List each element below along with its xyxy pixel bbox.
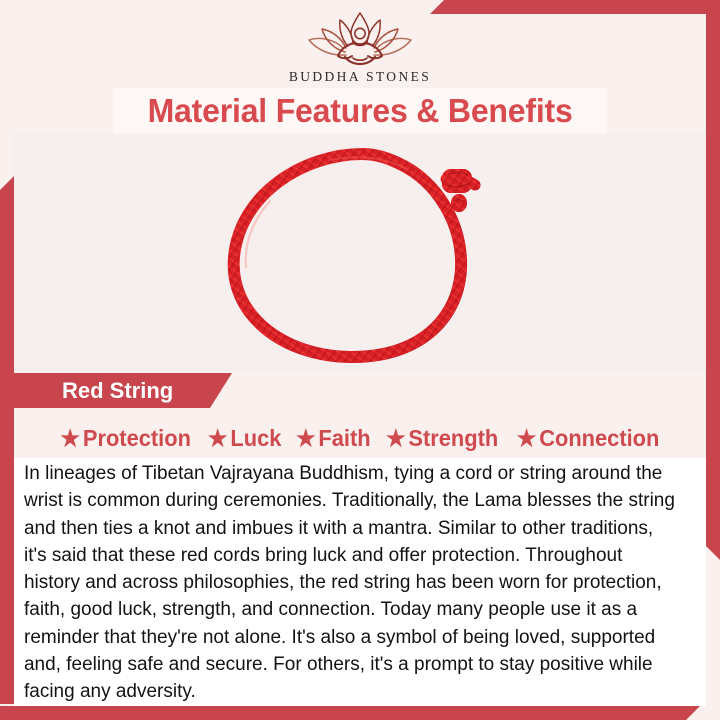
red-string-bracelet-image: [210, 141, 510, 371]
star-icon: ★: [296, 427, 316, 450]
benefit-label: Faith: [318, 425, 370, 452]
benefit-item: ★ Connection: [516, 425, 659, 452]
material-name-label: Red String: [62, 378, 173, 404]
page-title: Material Features & Benefits: [147, 92, 572, 130]
benefit-label: Luck: [230, 425, 281, 452]
frame-bar-bottom: [0, 706, 700, 720]
brand-name: BUDDHA STONES: [250, 69, 470, 85]
benefits-list: ★ Protection ★ Luck ★ Faith ★ Strength ★…: [14, 419, 706, 457]
brand-header: BUDDHA STONES: [0, 0, 720, 90]
benefit-label: Connection: [539, 425, 659, 452]
frame-bar-left: [0, 176, 14, 704]
description-text: In lineages of Tibetan Vajrayana Buddhis…: [24, 460, 680, 706]
benefit-label: Strength: [409, 425, 499, 452]
benefit-label: Protection: [83, 425, 191, 452]
title-banner: Material Features & Benefits: [113, 88, 607, 133]
star-icon: ★: [516, 427, 536, 450]
star-icon: ★: [61, 427, 81, 450]
product-image-area: [14, 133, 706, 371]
star-icon: ★: [208, 427, 228, 450]
infographic-page: BUDDHA STONES Material Features & Benefi…: [0, 0, 720, 720]
benefit-item: ★ Protection: [61, 425, 191, 452]
benefit-item: ★ Faith: [296, 425, 371, 452]
description-panel: In lineages of Tibetan Vajrayana Buddhis…: [14, 458, 706, 706]
brand-logo: BUDDHA STONES: [250, 10, 470, 85]
material-name-tag: Red String: [0, 373, 232, 408]
star-icon: ★: [386, 427, 406, 450]
benefit-item: ★ Strength: [386, 425, 498, 452]
lotus-meditation-figure-icon: [301, 10, 419, 68]
benefit-item: ★ Luck: [208, 425, 281, 452]
